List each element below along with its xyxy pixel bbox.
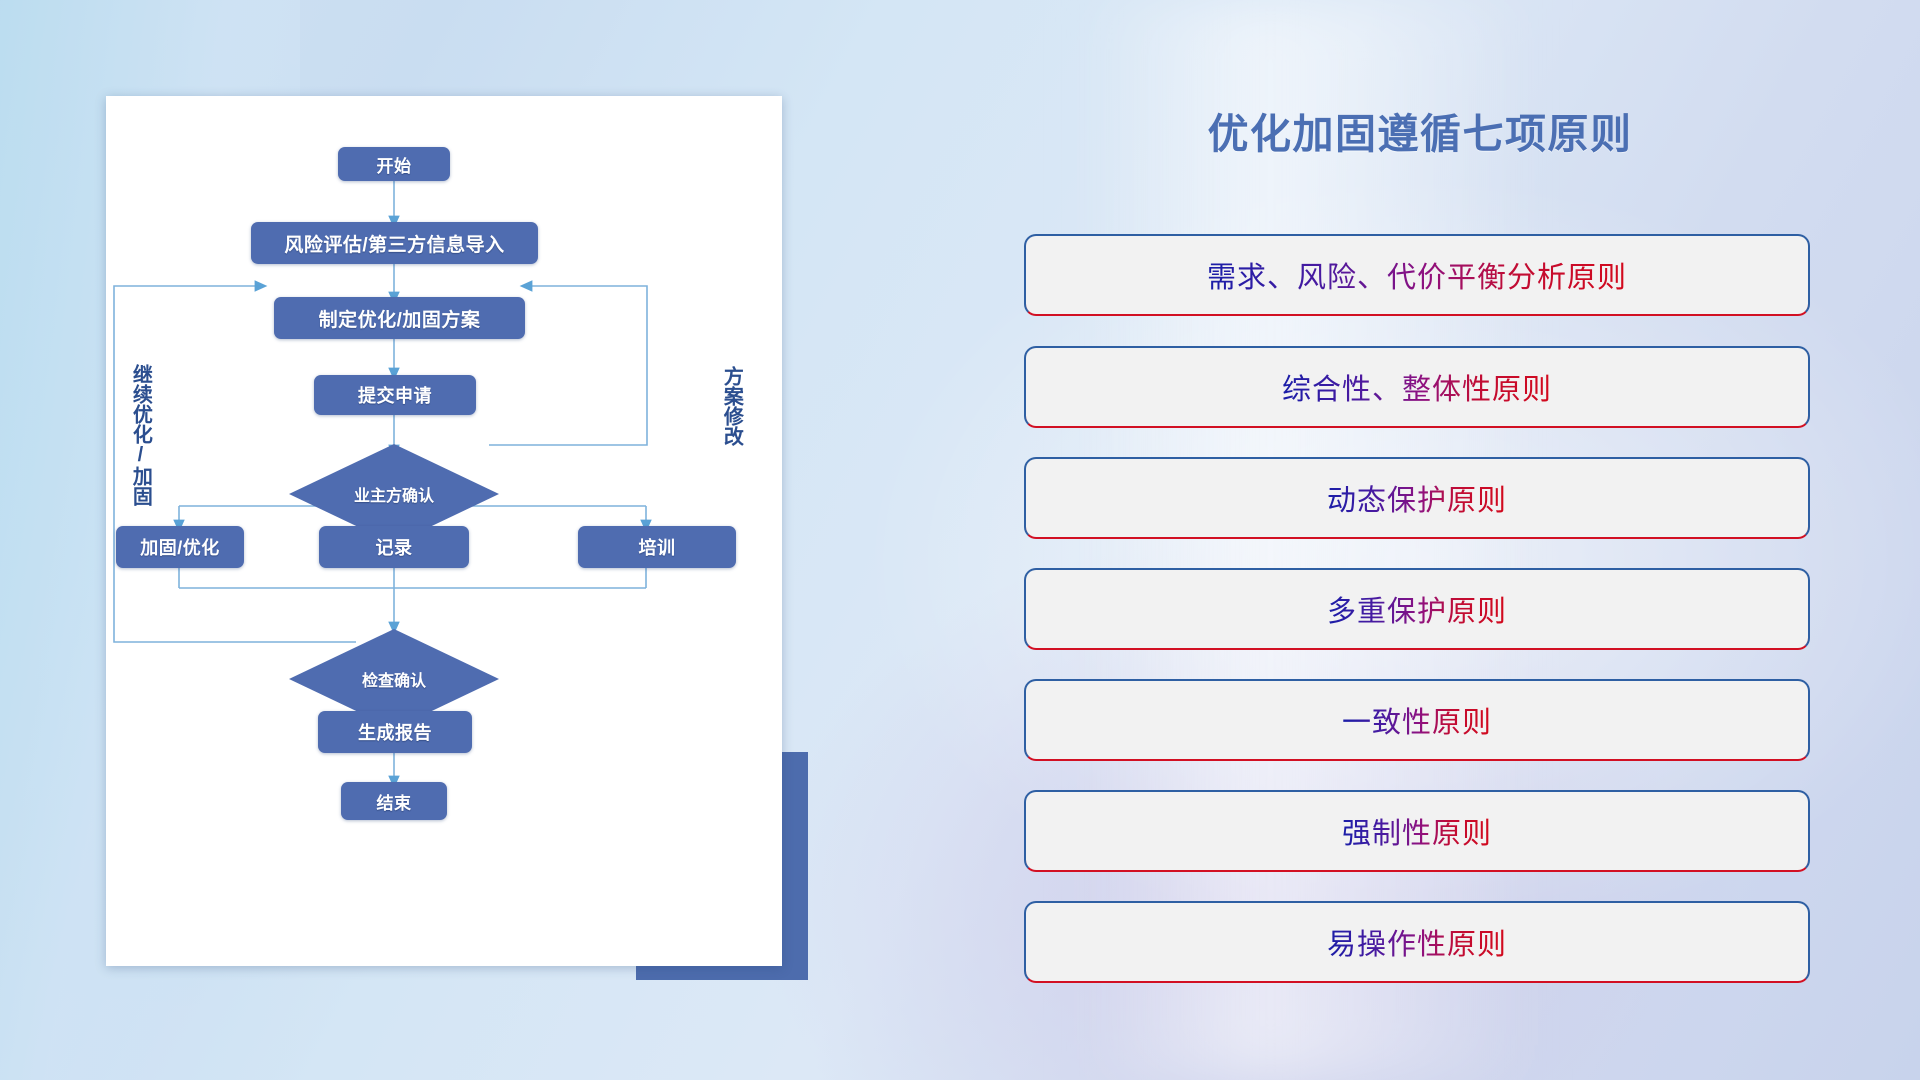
principles-panel: 优化加固遵循七项原则 需求、风险、代价平衡分析原则 综合性、整体性原则 动态保护… xyxy=(1010,84,1830,1004)
principle-item-7-label: 易操作性原则 xyxy=(1327,921,1507,963)
principle-item-3-label: 动态保护原则 xyxy=(1327,477,1507,519)
flow-node-generate-report-label: 生成报告 xyxy=(358,719,432,745)
principle-item-4[interactable]: 多重保护原则 xyxy=(1024,568,1810,650)
flow-node-end[interactable]: 结束 xyxy=(341,782,447,820)
flow-node-submit-label: 提交申请 xyxy=(358,382,432,408)
flow-node-record[interactable]: 记录 xyxy=(319,526,469,568)
flow-node-make-plan[interactable]: 制定优化/加固方案 xyxy=(274,297,525,339)
flow-node-risk-assessment[interactable]: 风险评估/第三方信息导入 xyxy=(251,222,538,264)
edge-label-left-loop: 继续优化/加固 xyxy=(130,364,150,506)
principle-item-1[interactable]: 需求、风险、代价平衡分析原则 xyxy=(1024,234,1810,316)
principle-item-2-label: 综合性、整体性原则 xyxy=(1282,366,1552,408)
principle-item-1-label: 需求、风险、代价平衡分析原则 xyxy=(1207,254,1627,296)
flow-node-training[interactable]: 培训 xyxy=(578,526,736,568)
principle-item-6-label: 强制性原则 xyxy=(1342,810,1492,852)
principle-item-2[interactable]: 综合性、整体性原则 xyxy=(1024,346,1810,428)
principle-item-3[interactable]: 动态保护原则 xyxy=(1024,457,1810,539)
flow-node-submit[interactable]: 提交申请 xyxy=(314,375,476,415)
flow-node-training-label: 培训 xyxy=(639,534,676,560)
flow-node-risk-assessment-label: 风险评估/第三方信息导入 xyxy=(284,230,504,257)
flow-node-start-label: 开始 xyxy=(377,152,412,177)
flow-node-make-plan-label: 制定优化/加固方案 xyxy=(319,305,481,332)
flow-node-generate-report[interactable]: 生成报告 xyxy=(318,711,472,753)
page-title: 优化加固遵循七项原则 xyxy=(1010,100,1830,160)
edge-label-right-loop: 方案修改 xyxy=(721,366,741,446)
principle-item-5[interactable]: 一致性原则 xyxy=(1024,679,1810,761)
flow-node-reinforce[interactable]: 加固/优化 xyxy=(116,526,244,568)
principle-item-5-label: 一致性原则 xyxy=(1342,699,1492,741)
principle-item-7[interactable]: 易操作性原则 xyxy=(1024,901,1810,983)
flow-node-record-label: 记录 xyxy=(376,534,413,560)
principle-item-4-label: 多重保护原则 xyxy=(1327,588,1507,630)
flowchart-card: 开始 风险评估/第三方信息导入 制定优化/加固方案 提交申请 业主方确认 加固/… xyxy=(106,96,782,966)
flow-node-reinforce-label: 加固/优化 xyxy=(140,534,220,560)
flowchart-canvas: 开始 风险评估/第三方信息导入 制定优化/加固方案 提交申请 业主方确认 加固/… xyxy=(106,96,782,966)
flow-node-end-label: 结束 xyxy=(377,789,412,814)
flow-node-start[interactable]: 开始 xyxy=(338,147,450,181)
principle-item-6[interactable]: 强制性原则 xyxy=(1024,790,1810,872)
